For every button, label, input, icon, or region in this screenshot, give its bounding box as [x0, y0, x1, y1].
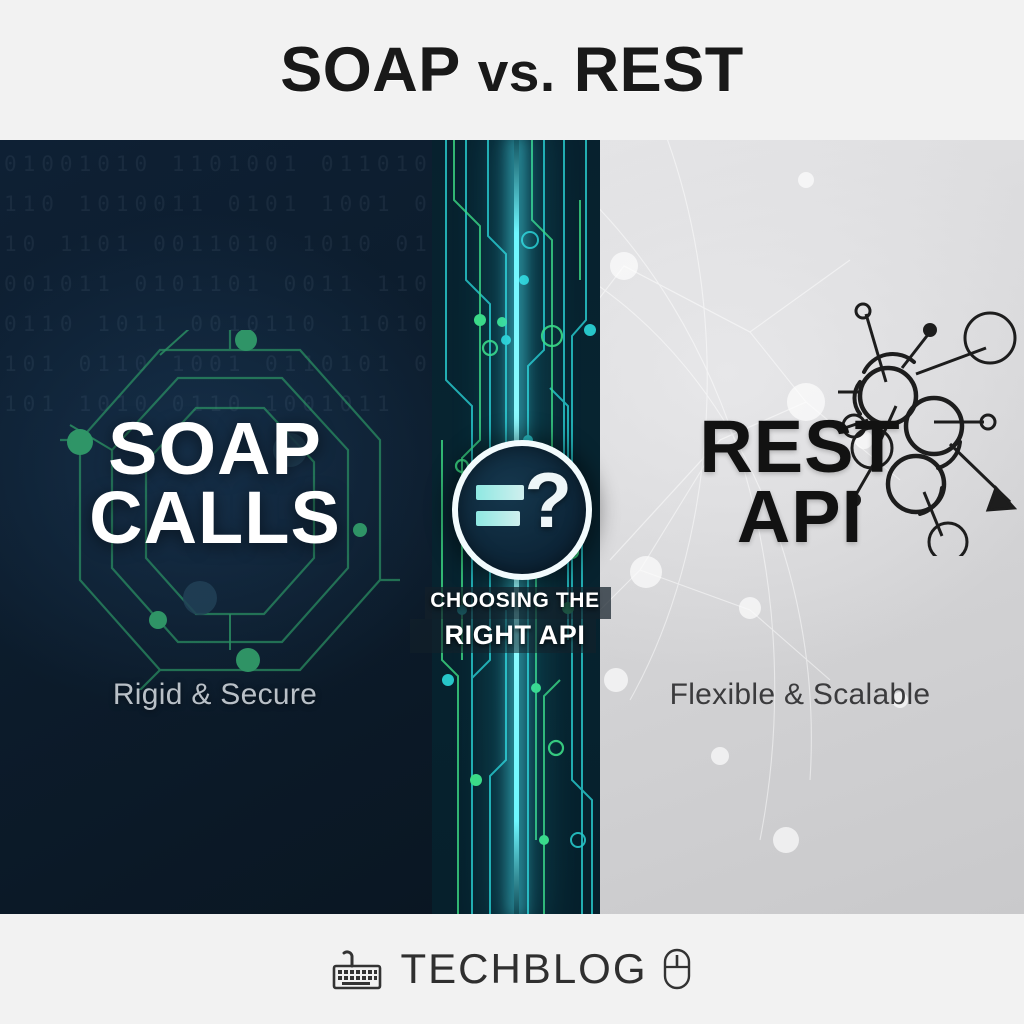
page-title: SOAP vs. REST — [280, 34, 743, 106]
title-soap: SOAP — [280, 35, 459, 105]
mouse-icon — [662, 947, 692, 991]
soap-heading: SOAP CALLS — [0, 415, 430, 553]
question-mark-glyph: ? — [524, 461, 572, 539]
header: SOAP vs. REST — [0, 0, 1024, 140]
rest-heading: REST API — [600, 412, 1000, 553]
question-mark-list-icon: ? — [474, 471, 570, 549]
title-vs: vs. — [478, 41, 556, 103]
comparison-panel: 01001010 1101001 0110101 00110 1010011 0… — [0, 140, 1024, 914]
center-caption-line2: RIGHT API — [400, 620, 630, 651]
rest-heading-line1: REST — [600, 412, 1000, 482]
footer: TECHBLOG — [0, 914, 1024, 1024]
center-caption-line1: CHOOSING THE — [400, 589, 630, 613]
soap-subtitle: Rigid & Secure — [0, 678, 430, 712]
rest-heading-line2: API — [600, 482, 1000, 552]
keyboard-icon — [332, 946, 386, 992]
rest-subtitle: Flexible & Scalable — [600, 678, 1000, 712]
soap-heading-line1: SOAP — [0, 415, 430, 484]
badge-bar-1 — [476, 485, 524, 500]
brand-name: TECHBLOG — [400, 945, 647, 993]
infographic-root: SOAP vs. REST 01001010 1101001 0110101 0… — [0, 0, 1024, 1024]
badge-bar-2 — [476, 511, 520, 526]
soap-heading-line2: CALLS — [0, 484, 430, 553]
choosing-badge[interactable]: ? — [452, 440, 592, 580]
title-rest: REST — [574, 35, 744, 105]
